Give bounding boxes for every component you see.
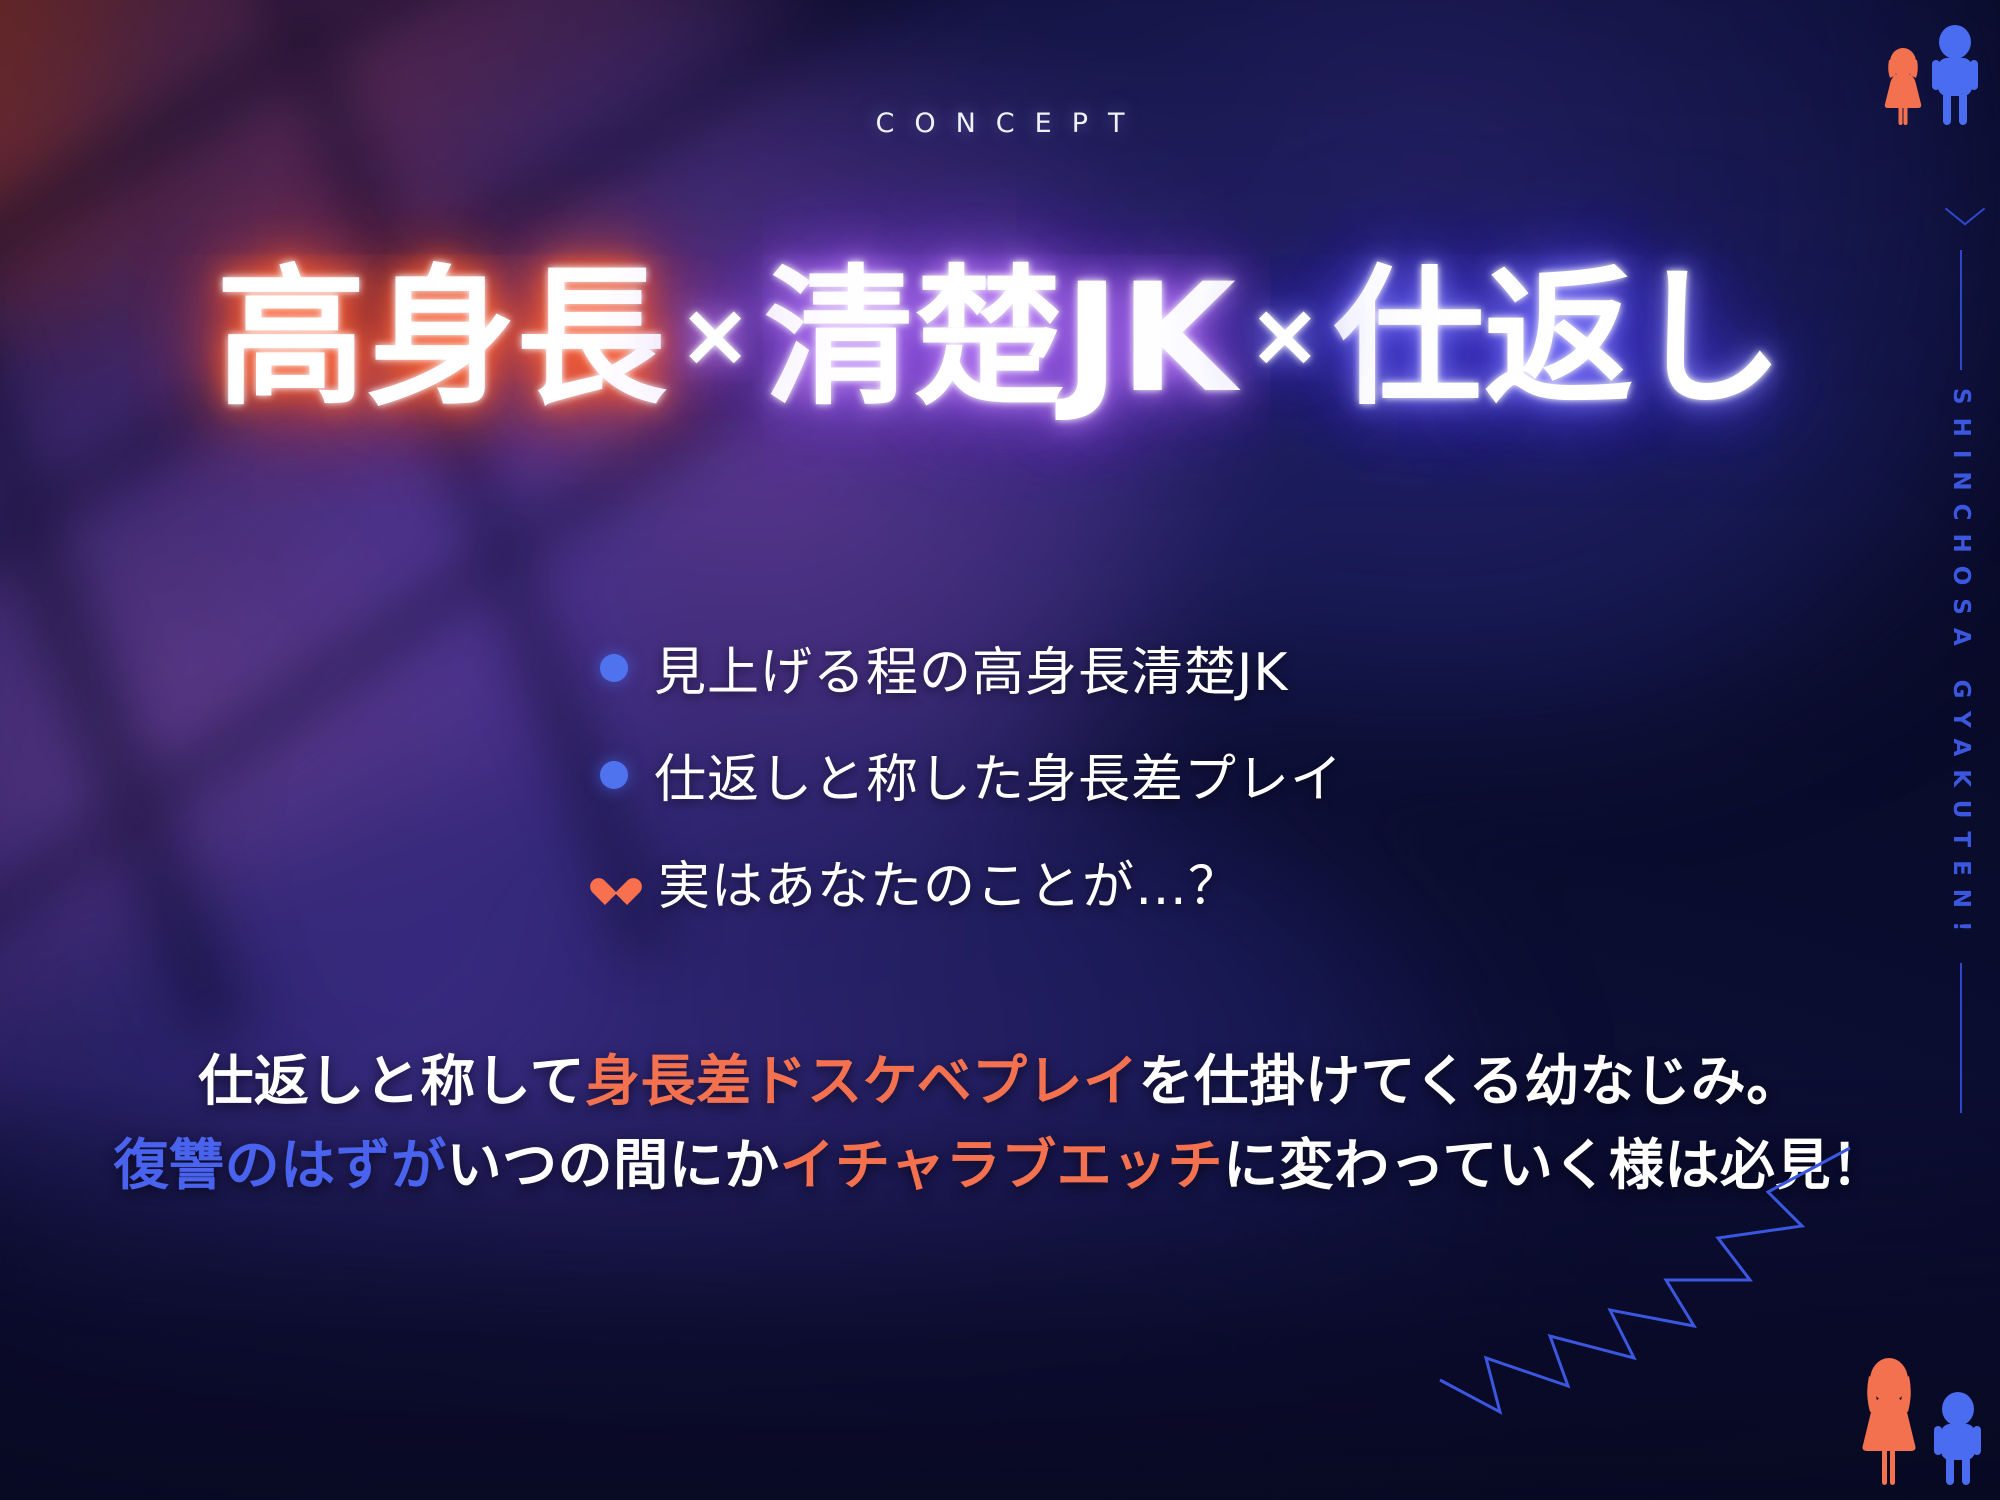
chevron-down-icon xyxy=(1945,193,1986,226)
list-item: 実はあなたのことが…？ xyxy=(600,844,1343,919)
dot-bullet-icon xyxy=(600,654,628,682)
kicker-label: CONCEPT xyxy=(0,108,2000,139)
side-label-text: SHINCHOSA GYAKUTEN! xyxy=(1948,388,1974,945)
female-figure-icon xyxy=(1880,46,1926,126)
title-part-tall: 高身長 xyxy=(216,255,666,423)
concept-slide: CONCEPT 高身長×清楚JK×仕返し 見上げる程の高身長清楚JK 仕返しと称… xyxy=(0,0,2000,1500)
title-part-revenge: 仕返し xyxy=(1334,255,1784,423)
desc-seg-highlight-blue: 復讐のはずが xyxy=(114,1133,447,1197)
list-item: 仕返しと称した身長差プレイ xyxy=(600,737,1343,812)
male-figure-icon xyxy=(1932,1390,1984,1486)
side-line-bottom xyxy=(1960,963,1962,1113)
figure-pair-bottom-right xyxy=(1856,1356,1984,1486)
desc-seg-plain: を仕掛けてくる幼なじみ。 xyxy=(1138,1049,1801,1113)
male-figure-icon xyxy=(1930,22,1980,126)
bullet-list: 見上げる程の高身長清楚JK 仕返しと称した身長差プレイ 実はあなたのことが…？ xyxy=(600,630,1343,919)
desc-seg-plain: 仕返しと称して xyxy=(198,1049,585,1113)
list-item-label: 仕返しと称した身長差プレイ xyxy=(654,737,1343,812)
dot-bullet-icon xyxy=(600,761,628,789)
side-line-top xyxy=(1960,250,1962,370)
list-item: 見上げる程の高身長清楚JK xyxy=(600,630,1343,705)
zigzag-burst-icon xyxy=(1450,1130,1850,1460)
list-item-label: 実はあなたのことが…？ xyxy=(658,844,1241,919)
figure-pair-top-right xyxy=(1880,22,1980,126)
list-item-label: 見上げる程の高身長清楚JK xyxy=(654,630,1288,705)
side-vertical-label: SHINCHOSA GYAKUTEN! xyxy=(1948,250,1974,1113)
female-figure-icon xyxy=(1856,1356,1922,1486)
title-separator-2: × xyxy=(1236,286,1334,385)
title-part-pure-jk: 清楚JK xyxy=(764,255,1236,423)
title-separator-1: × xyxy=(666,286,764,385)
desc-seg-plain: いつの間にか xyxy=(447,1133,780,1197)
page-title: 高身長×清楚JK×仕返し xyxy=(0,255,2000,423)
heart-bullet-icon xyxy=(600,867,632,897)
description-line-1: 仕返しと称して身長差ドスケベプレイを仕掛けてくる幼なじみ。 xyxy=(0,1040,2000,1124)
desc-seg-highlight-orange: イチャラブエッチ xyxy=(780,1133,1223,1197)
desc-seg-highlight-orange: 身長差ドスケベプレイ xyxy=(585,1049,1138,1113)
